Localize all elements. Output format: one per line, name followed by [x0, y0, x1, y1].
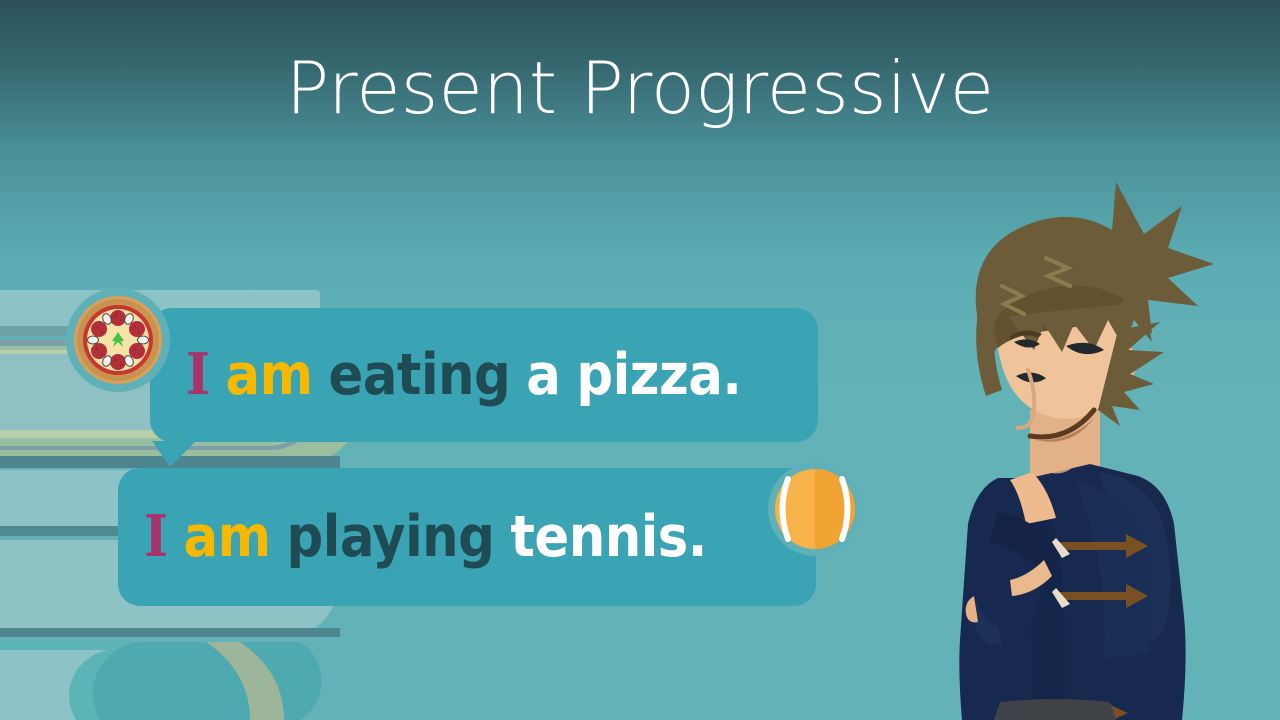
pizza-icon — [66, 288, 170, 392]
speech-bubble-pizza[interactable]: I am eating a pizza. — [150, 308, 818, 442]
sentence-pizza-object: pizza. — [576, 347, 741, 404]
sentence-pizza-subject: I — [186, 346, 210, 403]
sentence-tennis-object: tennis. — [510, 509, 706, 566]
sentence-tennis-auxiliary: am — [184, 509, 271, 566]
sentence-pizza-auxiliary: am — [226, 347, 313, 404]
speech-bubble-tennis[interactable]: I am playing tennis. — [118, 468, 816, 606]
page-title: Present Progressive — [0, 52, 1280, 124]
sentence-pizza-verb: eating — [329, 347, 511, 404]
speech-bubble-pizza-tail — [152, 441, 196, 467]
tennis-ball-icon — [768, 462, 862, 556]
cartoon-boy-illustration — [880, 160, 1280, 720]
sentence-pizza-text: I am eating a pizza. — [186, 346, 741, 404]
sentence-pizza-article: a — [526, 347, 560, 404]
slide-canvas: Present Progressive I am eating a pizza.… — [0, 0, 1280, 720]
sentence-tennis-subject: I — [144, 508, 168, 565]
sentence-tennis-text: I am playing tennis. — [144, 508, 707, 566]
sentence-tennis-verb: playing — [287, 509, 495, 566]
